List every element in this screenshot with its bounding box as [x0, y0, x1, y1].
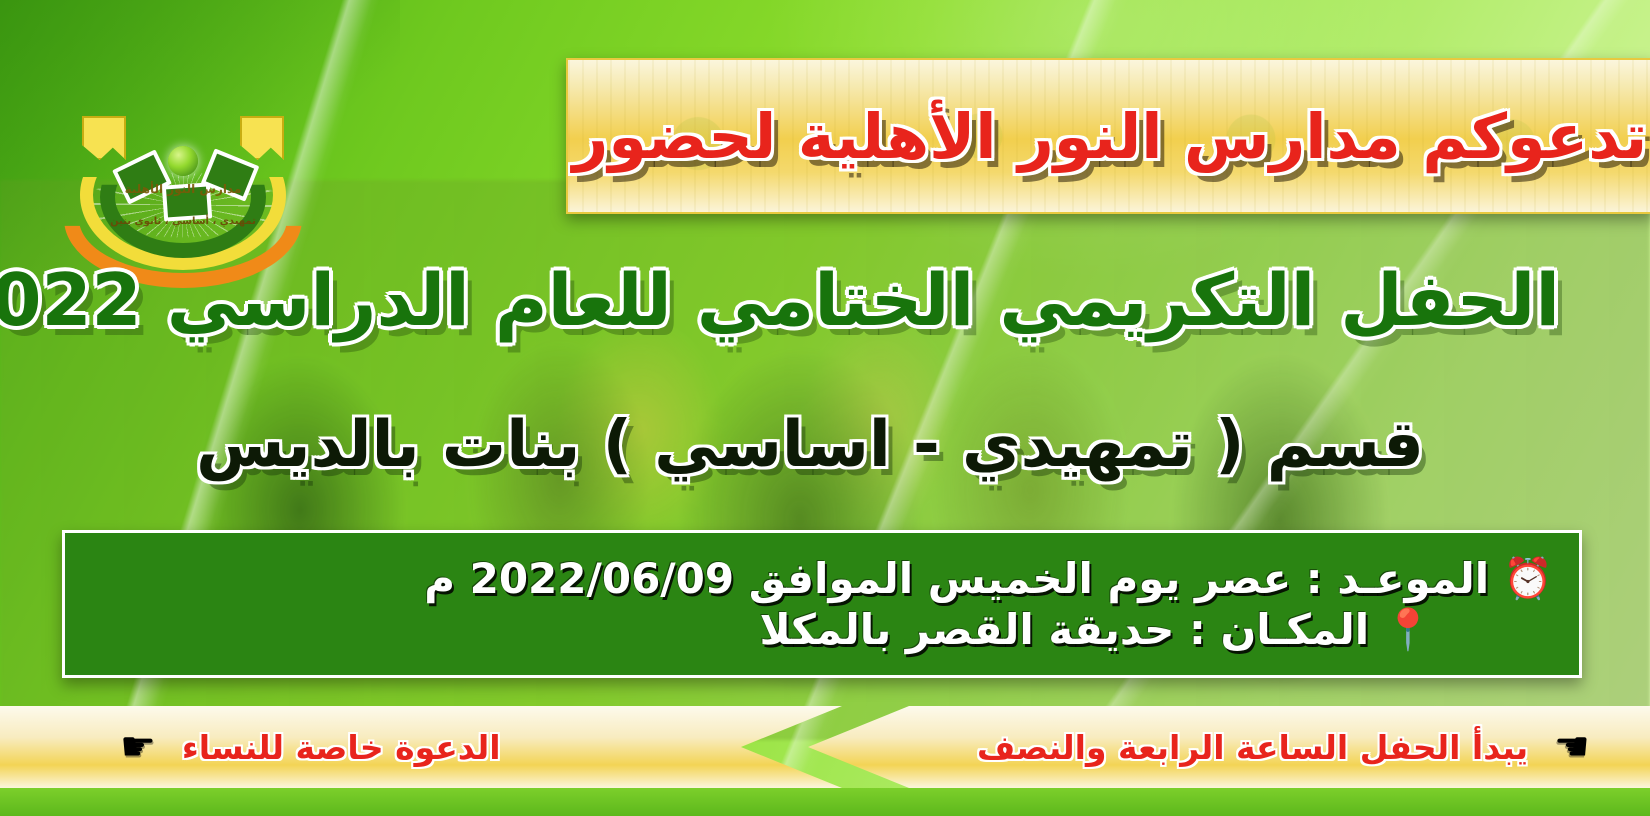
footer-note-start-time: ☛ يبدأ الحفل الساعة الرابعة والنصف: [808, 706, 1650, 788]
event-title-line2: قسم ( تمهيدي - اساسي ) بنات بالديس: [60, 408, 1560, 482]
pointing-hand-left-icon: ☛: [120, 727, 156, 767]
location-pin-icon: 📍: [1383, 610, 1433, 650]
event-details-box: ⏰ الموعـد : عصر يوم الخميس الموافق 2022/…: [62, 530, 1582, 678]
footer-right-text: يبدأ الحفل الساعة الرابعة والنصف: [977, 728, 1528, 767]
event-location-text: المكـان : حديقة القصر بالمكلا: [759, 605, 1369, 654]
school-logo: مدارس النور الأهلية تمهيدي ، أساسي ، ثان…: [58, 58, 308, 238]
invitation-poster: مدارس النور الأهلية تمهيدي ، أساسي ، ثان…: [0, 0, 1650, 816]
footer-ribbons: الدعوة خاصة للنساء ☛ ☛ يبدأ الحفل الساعة…: [0, 706, 1650, 788]
pointing-hand-right-icon: ☛: [1554, 727, 1590, 767]
footer-note-women-only: الدعوة خاصة للنساء ☛: [0, 706, 842, 788]
footer-left-text: الدعوة خاصة للنساء: [182, 728, 501, 767]
invitation-banner: تدعوكم مدارس النور الأهلية لحضور: [566, 58, 1650, 214]
bottom-green-strip: [0, 788, 1650, 816]
logo-books-icon: [118, 154, 248, 224]
event-location-row: 📍 المكـان : حديقة القصر بالمكلا: [91, 605, 1553, 654]
event-datetime-text: الموعـد : عصر يوم الخميس الموافق 2022/06…: [424, 554, 1489, 603]
event-title-line1: الحفل التكريمي الختامي للعام الدراسي 200…: [60, 258, 1560, 342]
alarm-clock-icon: ⏰: [1503, 559, 1553, 599]
banner-headline: تدعوكم مدارس النور الأهلية لحضور: [568, 60, 1650, 212]
event-datetime-row: ⏰ الموعـد : عصر يوم الخميس الموافق 2022/…: [91, 554, 1553, 603]
